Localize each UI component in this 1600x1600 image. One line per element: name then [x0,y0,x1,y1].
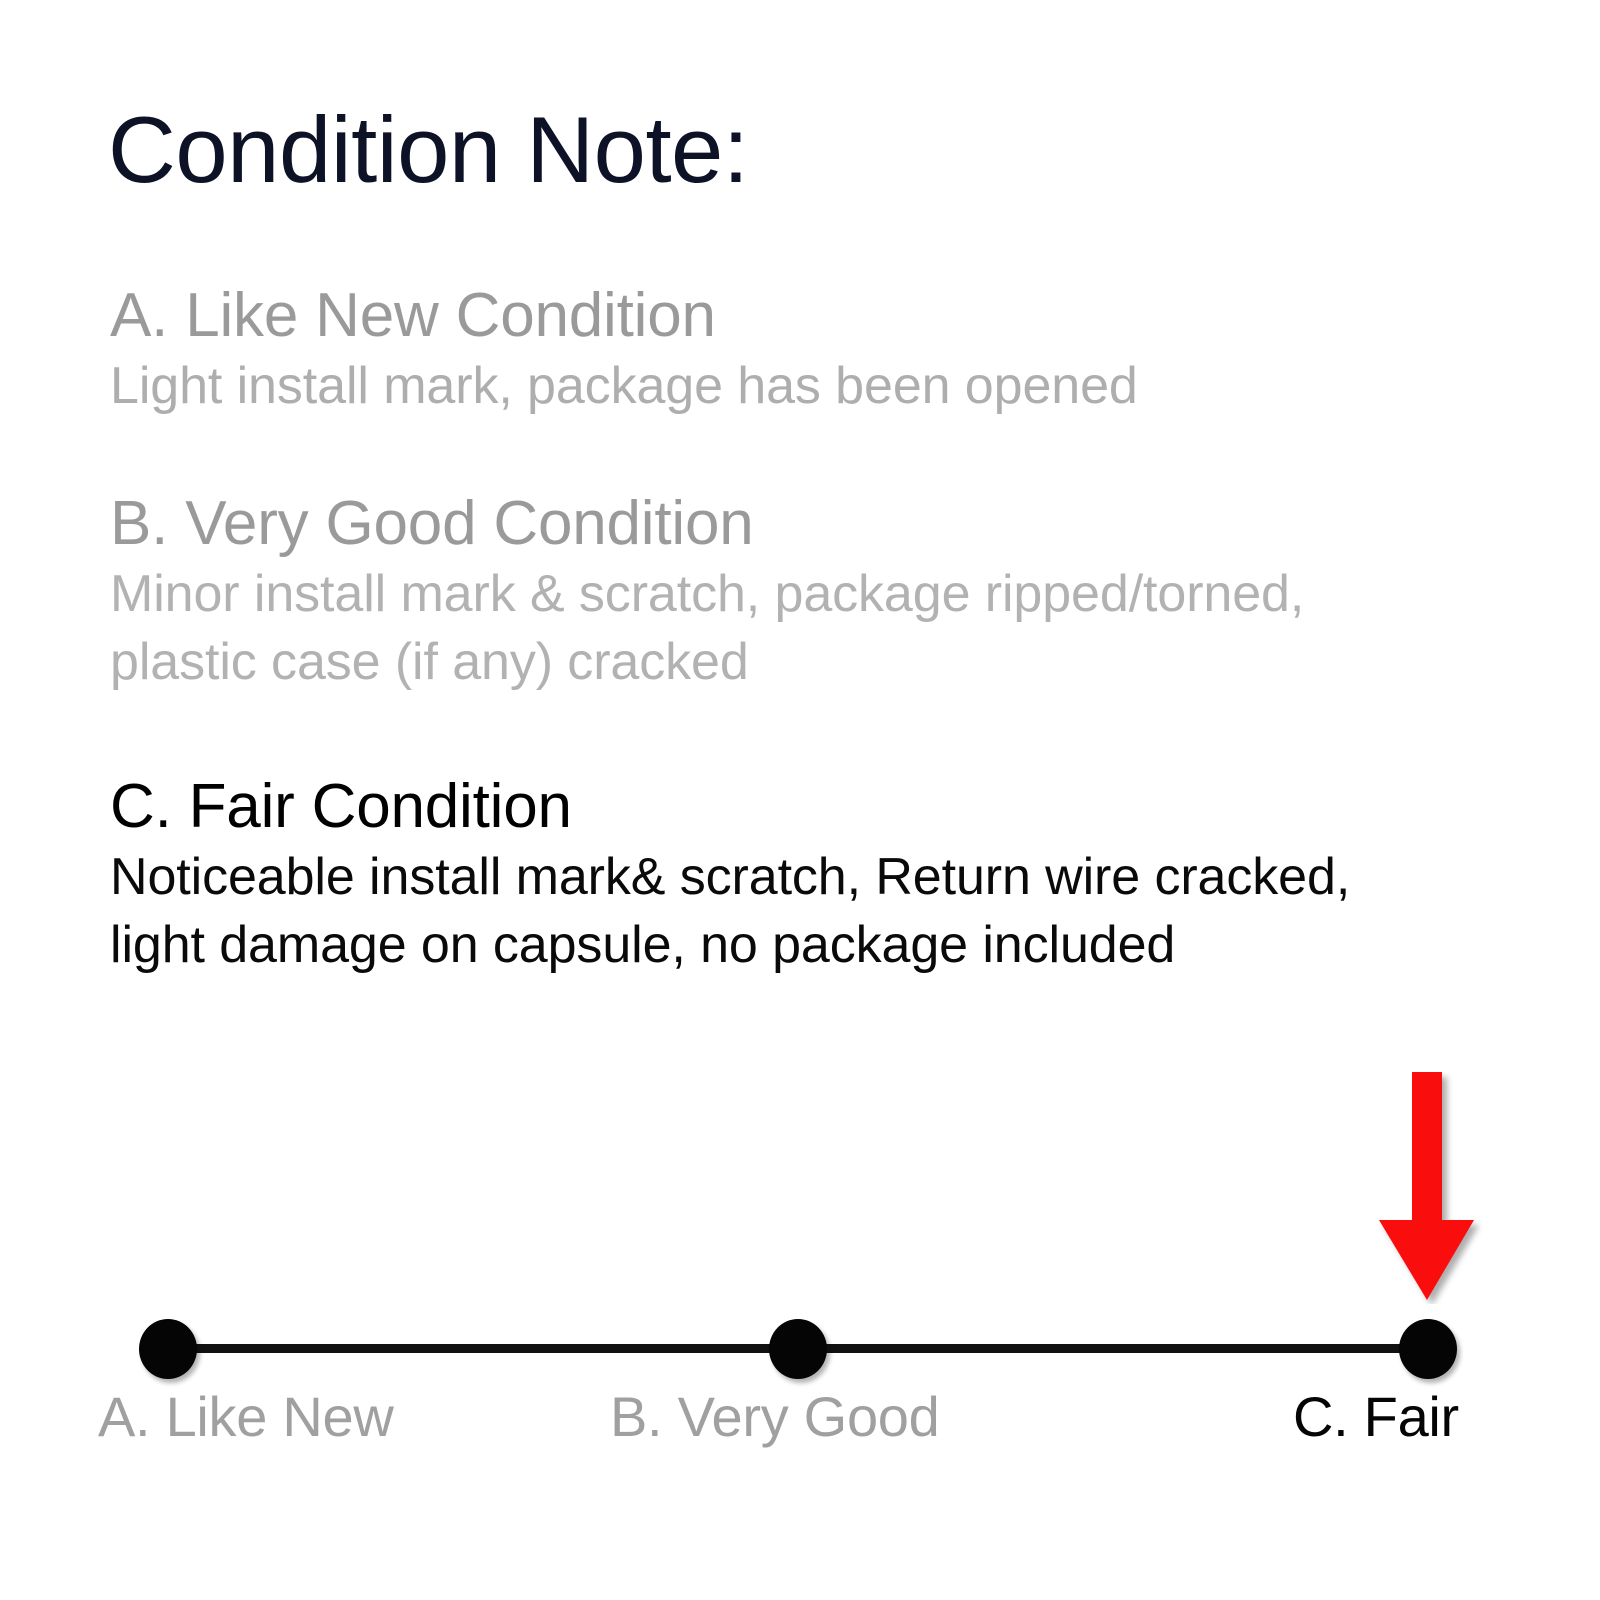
condition-c-body: Noticeable install mark& scratch, Return… [110,844,1530,979]
condition-a-body-line-1: Light install mark, package has been ope… [110,353,1530,421]
scale-label-a: A. Like New [98,1386,394,1448]
page-title: Condition Note: [108,103,748,197]
condition-block-a: A. Like New Condition Light install mark… [110,284,1530,421]
condition-b-body-line-2: plastic case (if any) cracked [110,629,1530,697]
arrow-down-icon [1374,1072,1482,1304]
condition-block-c: C. Fair Condition Noticeable install mar… [110,775,1530,979]
scale-dot-b[interactable] [769,1319,827,1379]
condition-c-body-line-1: Noticeable install mark& scratch, Return… [110,844,1530,912]
condition-a-heading: A. Like New Condition [110,284,1530,347]
condition-block-b: B. Very Good Condition Minor install mar… [110,492,1530,696]
condition-b-body-line-1: Minor install mark & scratch, package ri… [110,561,1530,629]
scale-label-b: B. Very Good [610,1386,939,1448]
condition-note-page: Condition Note: A. Like New Condition Li… [0,0,1600,1600]
condition-c-body-line-2: light damage on capsule, no package incl… [110,912,1530,980]
condition-a-body: Light install mark, package has been ope… [110,353,1530,421]
scale-label-c: C. Fair [1293,1386,1459,1448]
condition-b-heading: B. Very Good Condition [110,492,1530,555]
condition-scale: A. Like New B. Very Good C. Fair [0,1030,1600,1500]
scale-dot-c[interactable] [1399,1319,1457,1379]
condition-c-heading: C. Fair Condition [110,775,1530,838]
condition-b-body: Minor install mark & scratch, package ri… [110,561,1530,696]
scale-dot-a[interactable] [139,1319,197,1379]
